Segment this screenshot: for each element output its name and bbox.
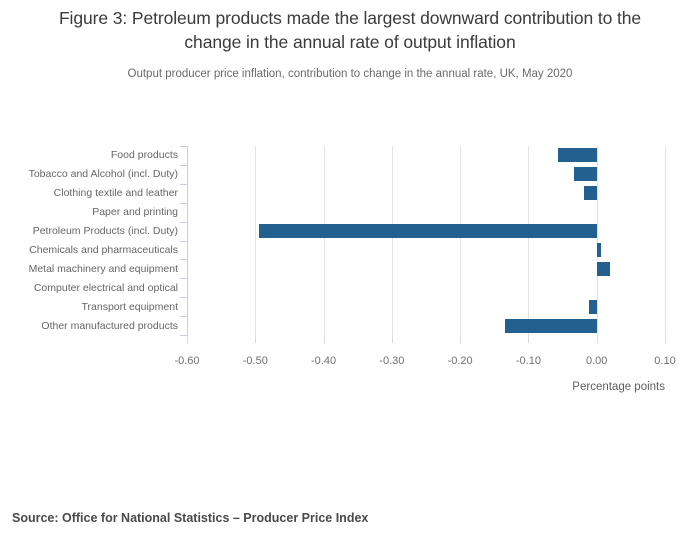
gridline-x — [324, 146, 325, 335]
bar[interactable] — [584, 186, 597, 200]
bar[interactable] — [597, 262, 611, 276]
y-axis-tick — [180, 259, 187, 260]
y-axis-line — [187, 146, 188, 335]
bar[interactable] — [597, 243, 601, 257]
gridline-x — [665, 146, 666, 335]
y-axis-tick — [180, 222, 187, 223]
x-axis-tick-label: -0.30 — [362, 355, 422, 367]
y-axis-category-label: Tobacco and Alcohol (incl. Duty) — [0, 168, 178, 180]
x-axis-tick-label: -0.50 — [225, 355, 285, 367]
y-axis-tick — [180, 278, 187, 279]
y-axis-ticks — [180, 146, 187, 336]
y-axis-category-label: Metal machinery and equipment — [0, 263, 178, 275]
bar[interactable] — [259, 224, 596, 238]
x-axis-tick — [460, 335, 461, 343]
bar[interactable] — [505, 319, 597, 333]
gridline-x — [460, 146, 461, 335]
x-axis-tick-label: 0.10 — [635, 355, 695, 367]
y-axis-tick — [180, 165, 187, 166]
y-axis-category-label: Paper and printing — [0, 206, 178, 218]
x-axis-tick — [528, 335, 529, 343]
gridline-x — [392, 146, 393, 335]
x-axis-tick — [255, 335, 256, 343]
y-axis-tick — [180, 316, 187, 317]
y-axis-tick — [180, 146, 187, 147]
gridline-x — [255, 146, 256, 335]
y-axis-category-label: Other manufactured products — [0, 320, 178, 332]
y-axis-category-label: Petroleum Products (incl. Duty) — [0, 225, 178, 237]
y-axis-labels: Food productsTobacco and Alcohol (incl. … — [0, 146, 178, 336]
x-axis-tick — [597, 335, 598, 343]
y-axis-tick — [180, 203, 187, 204]
x-axis-tick-label: -0.60 — [157, 355, 217, 367]
x-axis-tick-label: -0.40 — [294, 355, 354, 367]
y-axis-category-label: Food products — [0, 149, 178, 161]
y-axis-category-label: Clothing textile and leather — [0, 187, 178, 199]
source-note: Source: Office for National Statistics –… — [12, 511, 368, 525]
x-axis-tick — [187, 335, 188, 343]
y-axis-tick — [180, 297, 187, 298]
gridline-x — [597, 146, 598, 335]
y-axis-category-label: Transport equipment — [0, 301, 178, 313]
y-axis-tick — [180, 241, 187, 242]
x-axis-tick-label: -0.10 — [498, 355, 558, 367]
y-axis-category-label: Computer electrical and optical — [0, 282, 178, 294]
x-axis: -0.60-0.50-0.40-0.30-0.20-0.100.000.10 — [0, 335, 700, 385]
bar[interactable] — [574, 167, 597, 181]
bar-chart: Food productsTobacco and Alcohol (incl. … — [0, 0, 700, 420]
bar[interactable] — [558, 148, 596, 162]
x-axis-tick — [392, 335, 393, 343]
gridline-x — [528, 146, 529, 335]
bar[interactable] — [589, 300, 597, 314]
plot-area — [187, 146, 665, 335]
y-axis-category-label: Chemicals and pharmaceuticals — [0, 244, 178, 256]
x-axis-tick-label: 0.00 — [567, 355, 627, 367]
x-axis-tick-label: -0.20 — [430, 355, 490, 367]
x-axis-title: Percentage points — [0, 381, 665, 393]
x-axis-tick — [665, 335, 666, 343]
y-axis-tick — [180, 184, 187, 185]
x-axis-tick — [324, 335, 325, 343]
